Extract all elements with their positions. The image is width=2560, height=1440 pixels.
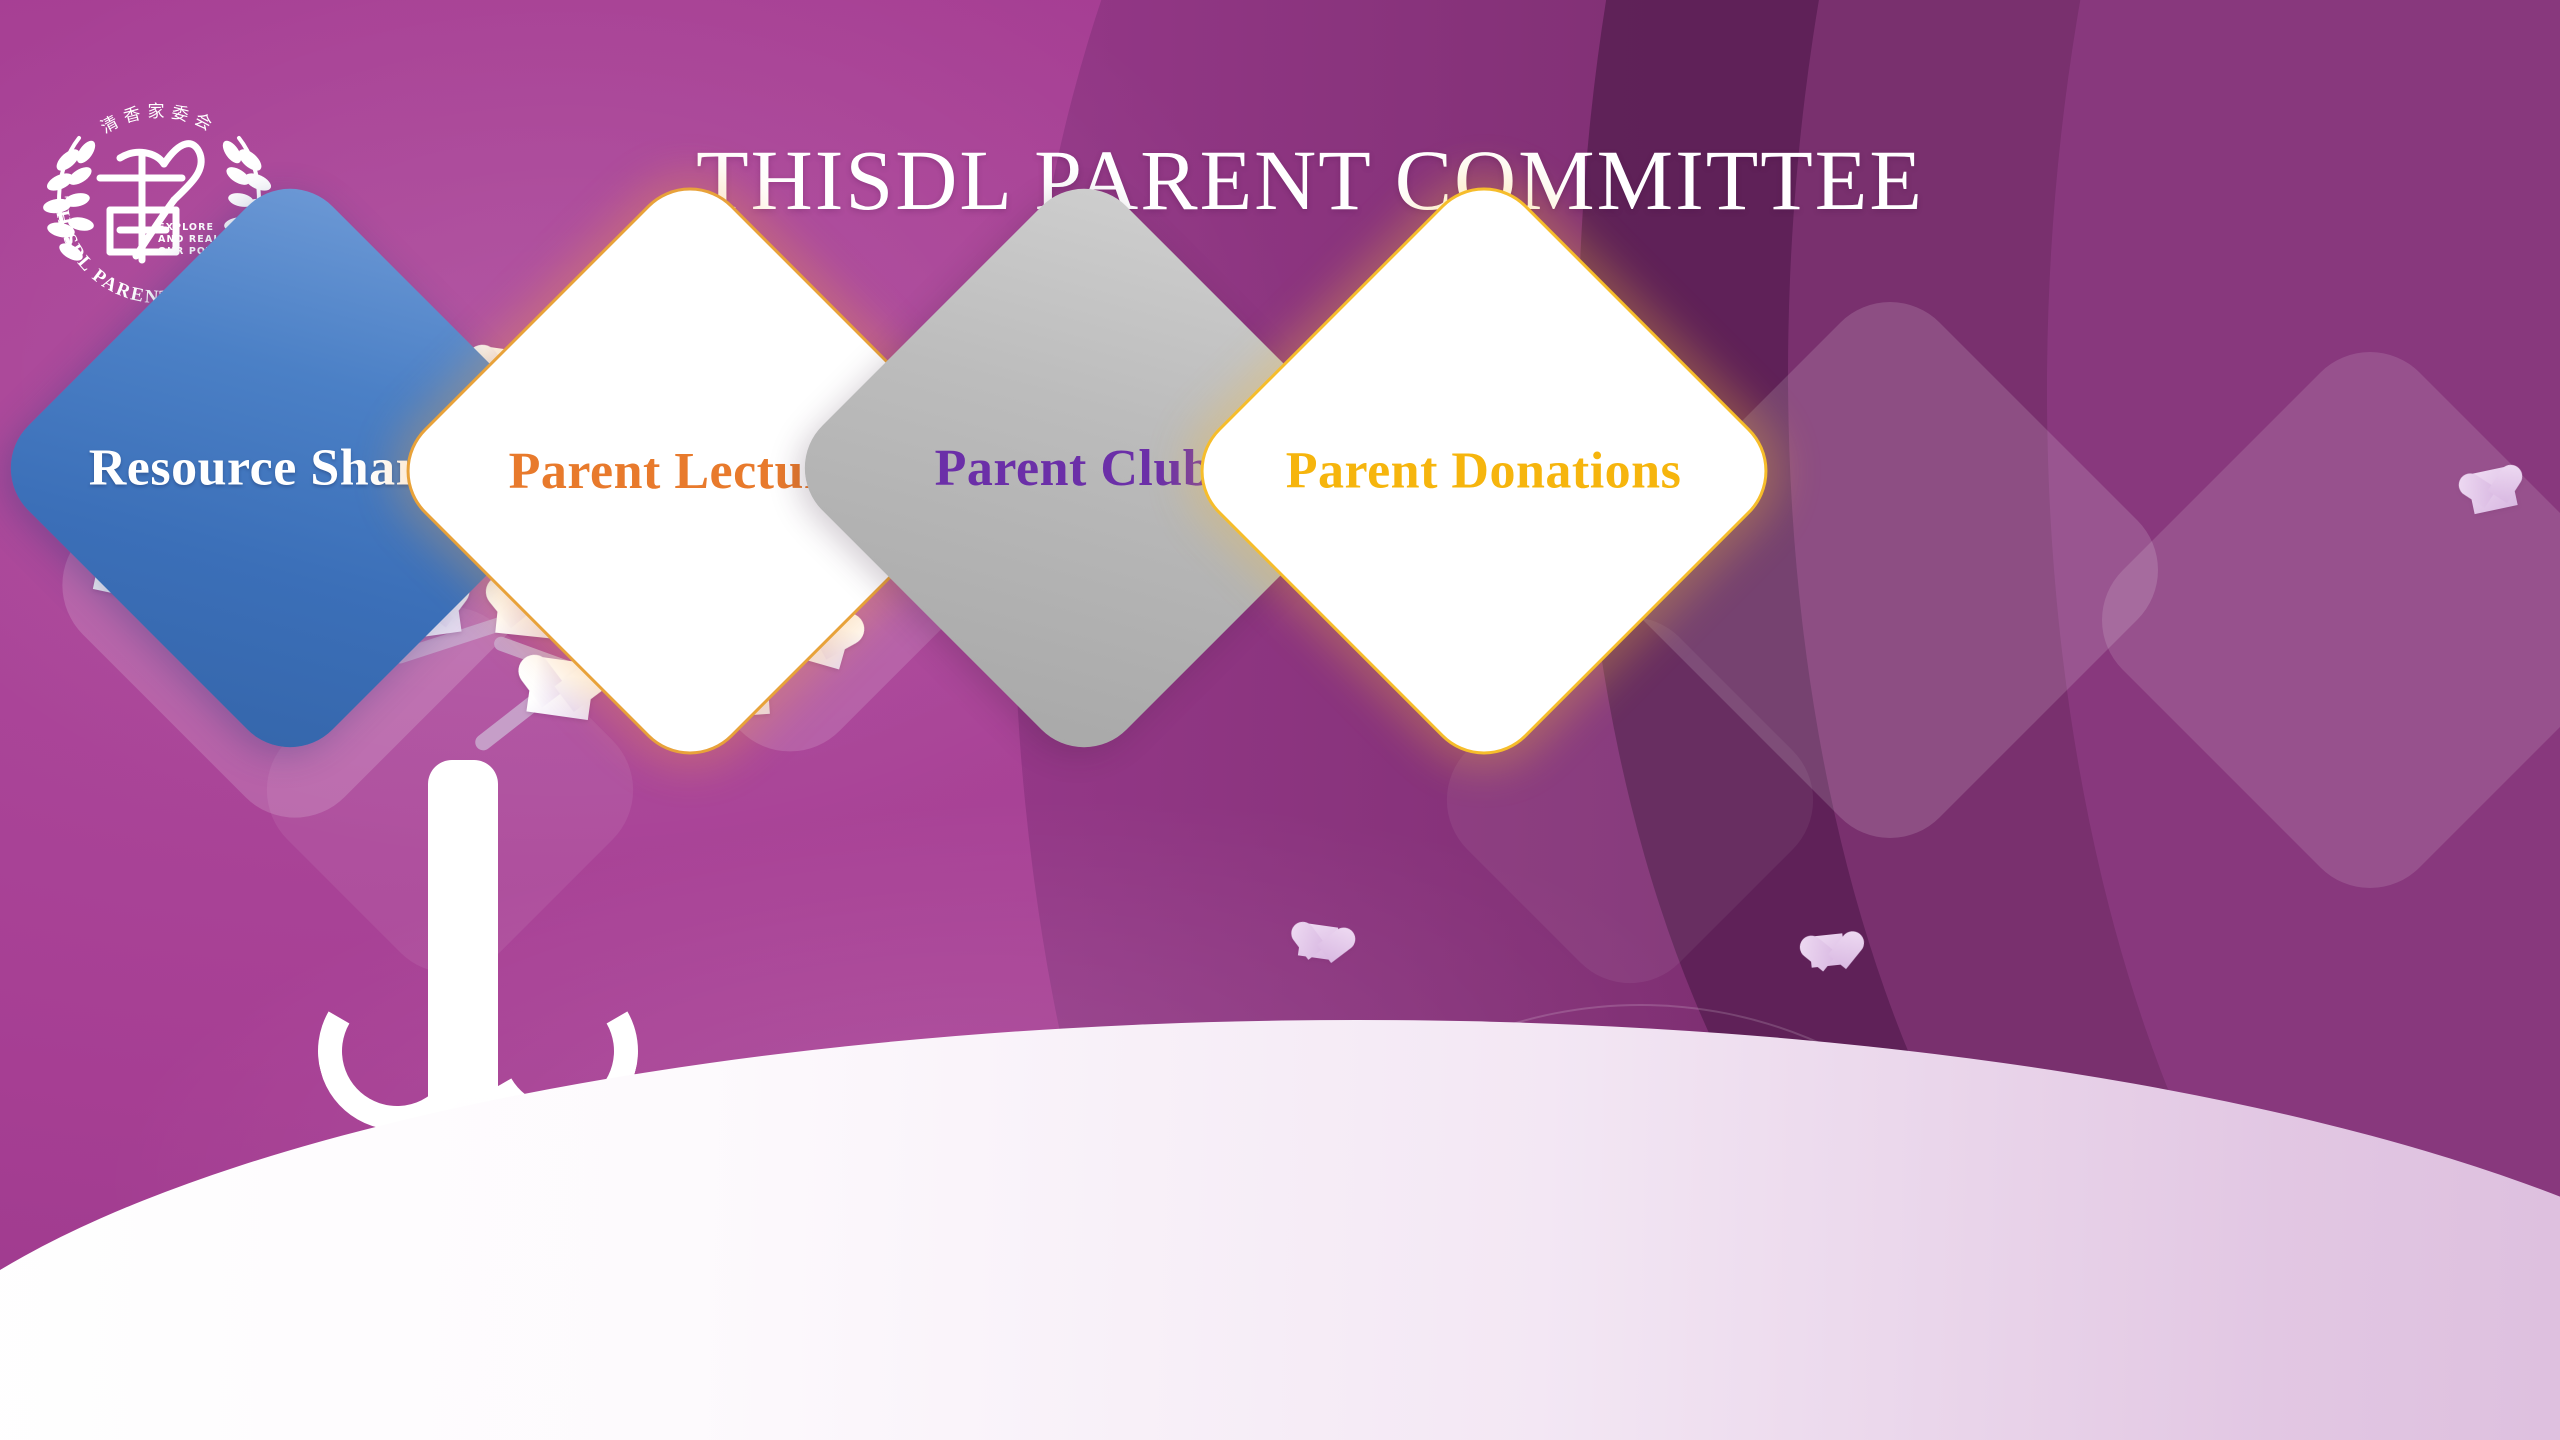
poster-canvas: THISDL PARENT COMMITTEE 清香家委会 — [0, 0, 2560, 1440]
diamond-label-parent-donations: Parent Donations — [1286, 442, 1682, 501]
diamond-parent-donations[interactable]: Parent Donations — [1176, 163, 1793, 780]
diamond-label-parent-clubs: Parent Clubs — [935, 438, 1233, 497]
diamond-row: Resource Sharing Parent Lectures Parent … — [0, 0, 2560, 1440]
